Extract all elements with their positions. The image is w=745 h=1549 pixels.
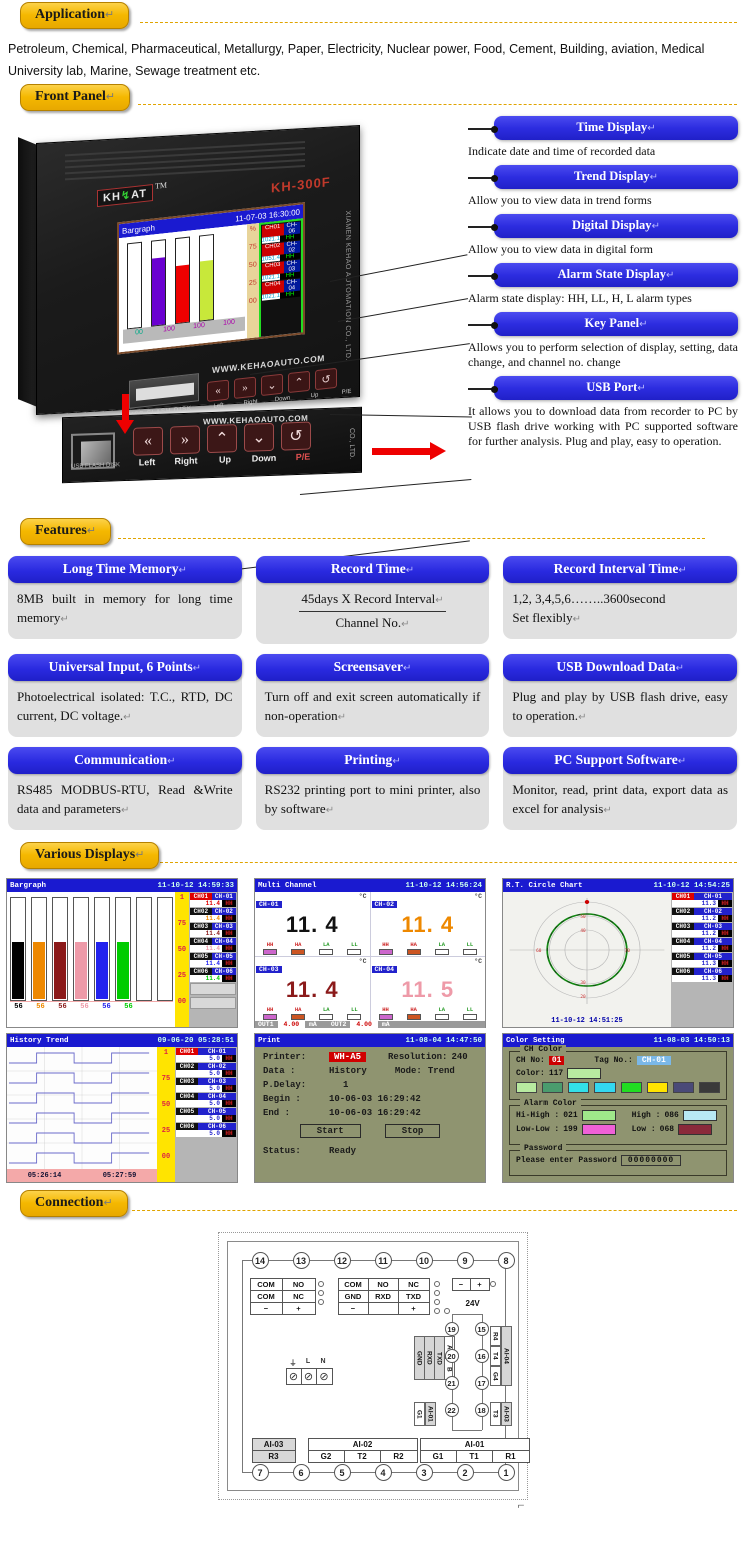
keypad-key-right[interactable]: » (170, 425, 200, 454)
screw-icon[interactable]: ⊘ (287, 1369, 302, 1384)
ai01-r1: R1 (493, 1451, 529, 1462)
terminal-14[interactable]: 14 (252, 1252, 269, 1269)
alarm-color-group: Alarm Color Hi-High :021High :086Low-Low… (509, 1105, 727, 1145)
print-begin-row: Begin : 10-06-03 16:29:42 (263, 1094, 477, 1104)
print-end-value[interactable]: 10-06-03 16:29:42 (329, 1108, 421, 1118)
feature-title: Communication (74, 752, 167, 767)
output-value: 4.00 (350, 1021, 378, 1028)
colorsetting-timestamp: 11-08-03 14:50:13 (653, 1037, 730, 1045)
device-key-left[interactable]: « (207, 380, 229, 402)
ai-block-02: AI-02 G2 T2 R2 (308, 1438, 418, 1463)
alarm-indicator (347, 949, 361, 955)
screen-channel-row: CH05CH-055.0HH (176, 1108, 236, 1122)
pilcrow-icon: ↵ (666, 270, 674, 281)
pilcrow-icon: ↵ (647, 123, 655, 134)
multichannel-alarm: HH (379, 1006, 393, 1020)
keypad-key-p-e[interactable]: ↺ (281, 422, 311, 451)
callout-list: Time Display↵Indicate date and time of r… (466, 116, 738, 455)
alarm-label: High : (632, 1111, 661, 1120)
feature-card: Communication↵RS485 MODBUS-RTU, Read &Wr… (8, 747, 242, 830)
print-titlebar: Print 11-08-04 14:47:50 (255, 1034, 485, 1047)
keypad-buttons[interactable]: «»⌃⌄↺ (133, 422, 311, 456)
power-terminal-block: −+ (452, 1278, 490, 1291)
multichannel-unit: °C (359, 958, 367, 965)
channel-value-row: 11.2HH (672, 930, 732, 937)
lcd-bar-value: 00 (127, 328, 151, 343)
terminal-cell: + (399, 1303, 429, 1314)
keypad-key-down[interactable]: ⌄ (244, 423, 274, 452)
lcd-bar-value: 100 (187, 321, 211, 336)
multichannel-alarms: HHHALALL (256, 1006, 369, 1020)
channel-alarm: HH (222, 975, 236, 982)
terminal-3[interactable]: 3 (416, 1464, 433, 1481)
trend-titlebar: History Trend 09-06-20 05:28:51 (7, 1034, 237, 1047)
features-header-row: Features↵ (0, 516, 745, 550)
channel-id: CH01 (190, 893, 212, 900)
screen-bar-value: 56 (10, 1003, 27, 1011)
alarm-value[interactable]: 199 (563, 1125, 577, 1134)
terminal-10[interactable]: 10 (416, 1252, 433, 1269)
feature-body: 45days X Record Interval↵Channel No.↵ (256, 577, 490, 644)
pilcrow-icon: ↵ (406, 565, 414, 576)
alarm-indicator (319, 949, 333, 955)
left-bus-line (242, 1260, 243, 1472)
palette-swatch[interactable] (621, 1082, 642, 1093)
feature-title: Long Time Memory (63, 561, 179, 576)
alarm-value[interactable]: 086 (664, 1111, 678, 1120)
bargraph-titlebar: Bargraph 11-10-12 14:59:33 (7, 879, 237, 892)
terminal-17[interactable]: 17 (475, 1376, 489, 1390)
front-panel-figure: KH↯AT TM KH-300F XIAMEN KEHAO AUTOMATION… (0, 116, 745, 516)
bargraph-timestamp: 11-10-12 14:59:33 (157, 882, 234, 890)
channel-head: CH03CH-03 (672, 923, 732, 930)
svg-text:50: 50 (580, 914, 586, 919)
channel-id: CH05 (176, 1108, 198, 1115)
divider-dashed (160, 862, 737, 863)
current-color-swatch[interactable] (567, 1068, 601, 1079)
alarm-value[interactable]: 021 (563, 1111, 577, 1120)
screen-circle-chart: R.T. Circle Chart 11-10-12 14:54:25 (502, 878, 734, 1028)
terminal-cell: GND (339, 1291, 369, 1302)
ai02-t2: T2 (345, 1451, 381, 1462)
ai01-g1: G1 (414, 1402, 425, 1426)
displays-column-1: Bargraph 11-10-12 14:59:33 565656565656 … (6, 878, 238, 1188)
feature-body: RS485 MODBUS-RTU, Read &Write data and p… (8, 768, 242, 830)
feature-card: Record Time↵45days X Record Interval↵Cha… (256, 556, 490, 644)
earth-screw-terminals: ⊘ ⊘ ⊘ (286, 1368, 333, 1385)
terminal-5[interactable]: 5 (334, 1464, 351, 1481)
callout-leader (468, 275, 498, 277)
channel-alarm: HH (718, 930, 732, 937)
lcd-bar-fill (152, 257, 165, 326)
password-legend: Password (520, 1144, 566, 1153)
terminal-7[interactable]: 7 (252, 1464, 269, 1481)
multichannel-output: OUT2 4.00 mA (331, 1021, 390, 1028)
channel-value: 11.3 (672, 975, 718, 982)
pilcrow-icon: ↵ (678, 756, 686, 767)
channel-id: CH02 (672, 908, 694, 915)
callout-usb-port: USB Port↵ (494, 376, 738, 400)
screw-icon[interactable]: ⊘ (302, 1369, 317, 1384)
multichannel-value: 11. 4 (372, 912, 485, 938)
features-row: Universal Input, 6 Points↵Photoelectrica… (8, 654, 737, 737)
color-label: Color: (516, 1069, 545, 1078)
ai04-title: AI-04 (501, 1326, 512, 1386)
channel-value-row: 11.4HH (190, 975, 236, 982)
circle-channel-list: CH01CH-0111.3HHCH02CH-0211.2HHCH03CH-031… (671, 892, 733, 1027)
output-value: 4.00 (278, 1021, 306, 1028)
bargraph-bars (10, 895, 173, 1001)
alarm-indicator (319, 1014, 333, 1020)
screw-labels: ⏚LN (286, 1358, 331, 1368)
terminal-cell: − (339, 1303, 369, 1314)
callout-description: Allow you to view data in trend forms (468, 193, 738, 208)
screw-icon[interactable]: ⊘ (317, 1369, 332, 1384)
ai03-label: AI-03 (253, 1439, 295, 1451)
ch-no-label: CH No: (516, 1056, 545, 1065)
terminal-cell: − (251, 1303, 283, 1314)
channel-value-row: 11.4HH (190, 945, 236, 952)
print-mode-value[interactable]: Trend (428, 1066, 455, 1076)
channel-alarm: HH (222, 945, 236, 952)
terminal-cell: + (471, 1279, 489, 1290)
output-label: OUT2 (331, 1021, 347, 1028)
bargraph-title: Bargraph (10, 882, 46, 890)
print-status-label: Status: (263, 1146, 329, 1156)
callout-title: USB Port (586, 380, 637, 394)
channel-head: CH05CH-05 (190, 953, 236, 960)
end-mark-icon: ⌐ (518, 1498, 525, 1513)
terminal-20[interactable]: 20 (445, 1349, 459, 1363)
lcd-bar (199, 234, 214, 322)
pilcrow-icon: ↵ (193, 663, 201, 674)
channel-value-row: 11.4HH (190, 930, 236, 937)
alarm-color-rows: Hi-High :021High :086Low-Low :199Low :06… (516, 1110, 720, 1135)
ch-no-row: CH No: 01 Tag No.: CH-01 (516, 1056, 720, 1065)
screen-channel-row: CH03CH-035.0HH (176, 1078, 236, 1092)
channel-head: CH01CH-01 (672, 893, 732, 900)
usb-port-icon[interactable] (129, 373, 199, 409)
screen-bar (73, 897, 89, 1001)
terminal-4[interactable]: 4 (375, 1464, 392, 1481)
alarm-swatch[interactable] (683, 1110, 717, 1121)
channel-tag: CH-05 (694, 953, 732, 960)
channel-id: CH05 (190, 953, 212, 960)
svg-text:20: 20 (580, 994, 586, 999)
callout-time-display: Time Display↵ (494, 116, 738, 140)
screen-bar-fill (12, 942, 24, 999)
channel-value-row: 5.0HH (176, 1115, 236, 1122)
bargraph-body: 565656565656 175502500 CH01CH-0111.4HHCH… (7, 892, 237, 1027)
pilcrow-icon: ↵ (650, 172, 658, 183)
palette-swatch[interactable] (542, 1082, 563, 1093)
print-status-row: Status: Ready (263, 1146, 477, 1156)
multichannel-timestamp: 11-10-12 14:56:24 (405, 882, 482, 890)
svg-text:40: 40 (580, 928, 586, 933)
terminal-2[interactable]: 2 (457, 1464, 474, 1481)
connection-diagram: 141312111098 7654321 COMNOCOMNC−+ COMNON… (218, 1232, 528, 1500)
terminal-15[interactable]: 15 (475, 1322, 489, 1336)
terminal-21[interactable]: 21 (445, 1376, 459, 1390)
terminal-1[interactable]: 1 (498, 1464, 515, 1481)
connection-inner-frame: 141312111098 7654321 COMNOCOMNC−+ COMNON… (227, 1241, 519, 1491)
pilcrow-icon: ↵ (392, 756, 400, 767)
channel-value-row: 11.3HH (672, 960, 732, 967)
palette-swatch[interactable] (516, 1082, 537, 1093)
channel-tag: CH-03 (694, 923, 732, 930)
terminal-19[interactable]: 19 (445, 1322, 459, 1336)
callout-leader (468, 388, 498, 390)
channel-alarm: HH (222, 1070, 236, 1077)
trademark-mark: TM (155, 180, 167, 190)
pilcrow-icon: ↵ (167, 756, 175, 767)
alarm-swatch[interactable] (678, 1124, 712, 1135)
feature-body: Turn off and exit screen automatically i… (256, 675, 490, 737)
application-title-text: Application (35, 7, 105, 22)
front-panel-title-text: Front Panel (35, 89, 106, 104)
multichannel-output: OUT1 4.00 mA (258, 1021, 317, 1028)
device-front-face: KH↯AT TM KH-300F XIAMEN KEHAO AUTOMATION… (36, 125, 360, 415)
print-body: Printer: WH-A5 Resolution: 240 Data : Hi… (255, 1047, 485, 1182)
keypad-key-label: Up (209, 454, 241, 465)
lightning-icon: ↯ (121, 189, 131, 202)
feature-header: PC Support Software↵ (503, 747, 737, 774)
screen-bar-value: 56 (76, 1003, 93, 1011)
callout-key-panel: Key Panel↵ (494, 312, 738, 336)
print-data-value[interactable]: History (329, 1066, 367, 1076)
terminal-row: COMNONC (339, 1279, 429, 1291)
palette-swatch[interactable] (568, 1082, 589, 1093)
feature-card: Screensaver↵Turn off and exit screen aut… (256, 654, 490, 737)
feature-header: Long Time Memory↵ (8, 556, 242, 583)
password-input[interactable]: 00000000 (621, 1155, 681, 1166)
callout-alarm-state-display: Alarm State Display↵ (494, 263, 738, 287)
channel-value: 5.0 (176, 1055, 222, 1062)
bargraph-values: 565656565656 (10, 1001, 173, 1011)
print-printer-value[interactable]: WH-A5 (329, 1052, 366, 1062)
channel-tag: CH-05 (198, 1108, 236, 1115)
terminal-cell: − (453, 1279, 471, 1290)
terminal-22[interactable]: 22 (445, 1403, 459, 1417)
screen-bar (136, 897, 152, 1001)
channel-value-row: 11.3HH (672, 975, 732, 982)
print-delay-value[interactable]: 1 (343, 1080, 348, 1090)
multichannel-outputs: OUT1 4.00 mAOUT2 4.00 mA (255, 1021, 485, 1028)
device-key-label: Up (301, 391, 328, 400)
screen-channel-row: CH03CH-0311.2HH (672, 923, 732, 937)
channel-tag: CH-01 (198, 1048, 236, 1055)
channel-tag: CH-03 (212, 923, 236, 930)
alarm-indicator (347, 1014, 361, 1020)
channel-tag: CH-02 (198, 1063, 236, 1070)
screen-bar (52, 897, 68, 1001)
trend-time-begin: 05:26:14 (28, 1172, 62, 1180)
multichannel-alarm: HA (291, 1006, 305, 1020)
screen-bar (31, 897, 47, 1001)
channel-value: 5.0 (176, 1100, 222, 1107)
terminal-12[interactable]: 12 (334, 1252, 351, 1269)
lcd-title: Bargraph (122, 223, 155, 236)
terminal-11[interactable]: 11 (375, 1252, 392, 1269)
alarm-label: Low : (632, 1125, 656, 1134)
ai01-t1: T1 (457, 1451, 493, 1462)
scale-tick: 1 (175, 894, 189, 902)
multichannel-cell: CH-04°C11. 5HHHALALL (371, 957, 486, 1021)
channel-value: 11.4 (190, 900, 222, 907)
channel-value: 11.3 (672, 900, 718, 907)
channel-id: CH06 (176, 1123, 198, 1130)
alarm-label: Low-Low : (516, 1125, 559, 1134)
pilcrow-icon: ↵ (637, 383, 645, 394)
print-start-button[interactable]: Start (300, 1124, 361, 1138)
terminal-dots-3 (444, 1308, 450, 1314)
feature-header: Universal Input, 6 Points↵ (8, 654, 242, 681)
channel-tag: CH-01 (212, 893, 236, 900)
multichannel-body: CH-01°C11. 4HHHALALLCH-02°C11. 4HHHALALL… (255, 892, 485, 1027)
channel-tag: CH-04 (198, 1093, 236, 1100)
terminal-cell: NC (399, 1279, 429, 1290)
alarm-label: Hi-High : (516, 1111, 559, 1120)
device-key-label: Left (205, 402, 232, 411)
channel-alarm: HH (718, 960, 732, 967)
keypad-key-left[interactable]: « (133, 427, 163, 456)
terminal-16[interactable]: 16 (475, 1349, 489, 1363)
channel-value: 5.0 (176, 1070, 222, 1077)
channel-alarm: HH (222, 1055, 236, 1062)
alarm-indicator (291, 1014, 305, 1020)
feature-title: Universal Input, 6 Points (49, 659, 193, 674)
alarm-swatch[interactable] (582, 1110, 616, 1121)
channel-tag: CH-02 (694, 908, 732, 915)
alarm-indicator (463, 949, 477, 955)
palette-swatch[interactable] (647, 1082, 668, 1093)
ai04-g4: G4 (490, 1366, 501, 1386)
multichannel-value: 11. 5 (372, 977, 485, 1003)
palette-swatch[interactable] (673, 1082, 694, 1093)
ai03-t3: T3 (490, 1402, 501, 1426)
terminal-6[interactable]: 6 (293, 1464, 310, 1481)
tag-no-value[interactable]: CH-01 (637, 1056, 671, 1065)
channel-value: 11.4 (190, 930, 222, 937)
screen-channel-row: CH04CH-0411.4HH (190, 938, 236, 952)
terminal-cell: COM (251, 1279, 283, 1290)
multichannel-unit: °C (474, 893, 482, 900)
channel-value: 5.0 (176, 1130, 222, 1137)
print-begin-value[interactable]: 10-06-03 16:29:42 (329, 1094, 421, 1104)
section-title-front-panel: Front Panel↵ (20, 84, 130, 111)
svg-text:70: 70 (625, 948, 631, 953)
feature-card: Universal Input, 6 Points↵Photoelectrica… (8, 654, 242, 737)
device-key-label: Down (269, 395, 296, 404)
terminal-13[interactable]: 13 (293, 1252, 310, 1269)
alarm-indicator (379, 1014, 393, 1020)
callout-description: Allows you to perform selection of displ… (468, 340, 738, 370)
section-title-features: Features↵ (20, 518, 111, 545)
trend-curves-icon (7, 1047, 157, 1182)
feature-header: Screensaver↵ (256, 654, 490, 681)
screen-bar-fill (33, 942, 45, 999)
alarm-indicator (379, 949, 393, 955)
feature-card: Long Time Memory↵8MB built in memory for… (8, 556, 242, 644)
screen-channel-row: CH05CH-0511.3HH (672, 953, 732, 967)
output-unit: mA (309, 1021, 317, 1028)
multichannel-unit: °C (359, 893, 367, 900)
channel-id: CH05 (672, 953, 694, 960)
callout-leader (468, 226, 498, 228)
ai02-g2: G2 (309, 1451, 345, 1462)
displays-title-text: Various Displays (35, 847, 135, 862)
screen-bar (94, 897, 110, 1001)
palette-swatch[interactable] (699, 1082, 720, 1093)
device-key-p-e[interactable]: ↺ (315, 368, 337, 390)
print-resolution-value[interactable]: 240 (451, 1052, 467, 1062)
multichannel-alarm: HH (263, 1006, 277, 1020)
terminal-8[interactable]: 8 (498, 1252, 515, 1269)
multichannel-grid: CH-01°C11. 4HHHALALLCH-02°C11. 4HHHALALL… (255, 892, 485, 1021)
alarm-color-row: Low-Low :199Low :068 (516, 1124, 720, 1135)
screen-blank-row (190, 997, 236, 1009)
alarm-color-legend: Alarm Color (520, 1099, 581, 1108)
pilcrow-icon: ↵ (105, 9, 114, 21)
feature-text: Plug and play by USB flash drive, easy t… (512, 689, 728, 723)
terminal-cell: TXD (399, 1291, 429, 1302)
callout-digital-display: Digital Display↵ (494, 214, 738, 238)
feature-text: Set flexibly (512, 610, 572, 625)
ai03-title: AI-03 (501, 1402, 512, 1426)
color-palette[interactable] (516, 1082, 720, 1093)
feature-body: 1,2, 3,4,5,6……..3600secondSet flexibly↵ (503, 577, 737, 639)
alarm-value[interactable]: 068 (660, 1125, 674, 1134)
device-key-down[interactable]: ⌄ (261, 374, 283, 396)
device-key-up[interactable]: ⌃ (288, 371, 310, 393)
channel-value: 11.4 (190, 960, 222, 967)
print-stop-button[interactable]: Stop (385, 1124, 441, 1138)
alarm-swatch[interactable] (582, 1124, 616, 1135)
print-buttons: Start Stop (263, 1124, 477, 1138)
bargraph-channel-list: CH01CH-0111.4HHCH02CH-0211.4HHCH03CH-031… (189, 892, 237, 1027)
terminal-cell: COM (339, 1279, 369, 1290)
pilcrow-icon: ↵ (676, 663, 684, 674)
bargraph-plot: 565656565656 (7, 892, 175, 1027)
ai01-title: AI-01 (425, 1402, 436, 1426)
alarm-indicator (407, 949, 421, 955)
print-title: Print (258, 1037, 281, 1045)
terminal-18[interactable]: 18 (475, 1403, 489, 1417)
terminal-9[interactable]: 9 (457, 1252, 474, 1269)
channel-head: CH03CH-03 (176, 1078, 236, 1085)
keypad-key-up[interactable]: ⌃ (207, 424, 237, 453)
channel-value: 11.2 (672, 945, 718, 952)
channel-id: CH01 (672, 893, 694, 900)
print-timestamp: 11-08-04 14:47:50 (405, 1037, 482, 1045)
channel-value-row: 11.4HH (190, 900, 236, 907)
channel-alarm: HH (222, 1100, 236, 1107)
channel-alarm: HH (222, 960, 236, 967)
channel-alarm: HH (222, 1085, 236, 1092)
multichannel-tag: CH-03 (256, 966, 282, 973)
usb-flash-label: USB FLASH DISK (71, 462, 120, 470)
lcd-bar-value: 100 (217, 318, 241, 333)
ch-no-value[interactable]: 01 (549, 1056, 565, 1065)
palette-swatch[interactable] (594, 1082, 615, 1093)
print-data-row: Data : History Mode: Trend (263, 1066, 477, 1076)
channel-head: CH06CH-06 (190, 968, 236, 975)
terminal-cell: COM (251, 1291, 283, 1302)
device-key-right[interactable]: » (234, 377, 256, 399)
color-value[interactable]: 117 (549, 1069, 563, 1078)
print-begin-label: Begin : (263, 1094, 329, 1104)
print-printer-row: Printer: WH-A5 Resolution: 240 (263, 1052, 477, 1062)
